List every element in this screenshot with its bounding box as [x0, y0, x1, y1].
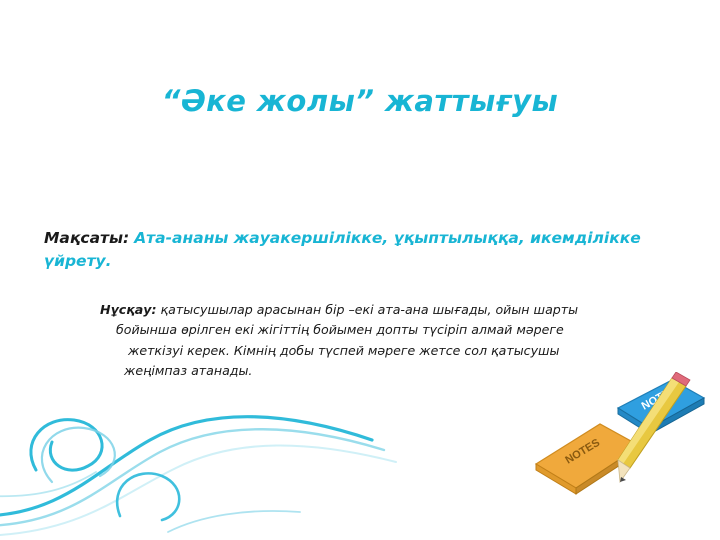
notebooks-pencil-clipart: NOTES NOTES	[522, 372, 712, 502]
instruction-block: Нұсқау: қатысушылар арасынан бір –екі ат…	[100, 300, 700, 382]
goal-block: Мақсаты: Ата-ананы жауакершілікке, ұқыпт…	[44, 227, 644, 274]
instruction-line-2: бойынша өрілген екі жігіттің бойымен доп…	[100, 320, 700, 340]
instruction-label: Нұсқау:	[100, 302, 157, 317]
slide-canvas: “Әке жолы” жаттығуы Мақсаты: Ата-ананы ж…	[0, 0, 720, 540]
instruction-line-3: жеткізуі керек. Кімнің добы түспей мәрег…	[100, 341, 700, 361]
instruction-line-1: қатысушылар арасынан бір –екі ата-ана шы…	[161, 302, 579, 317]
pencil-icon	[618, 372, 690, 482]
goal-label: Мақсаты:	[44, 229, 129, 247]
goal-value: Ата-ананы жауакершілікке, ұқыптылыққа, и…	[44, 229, 641, 270]
page-title: “Әке жолы” жаттығуы	[0, 84, 720, 118]
